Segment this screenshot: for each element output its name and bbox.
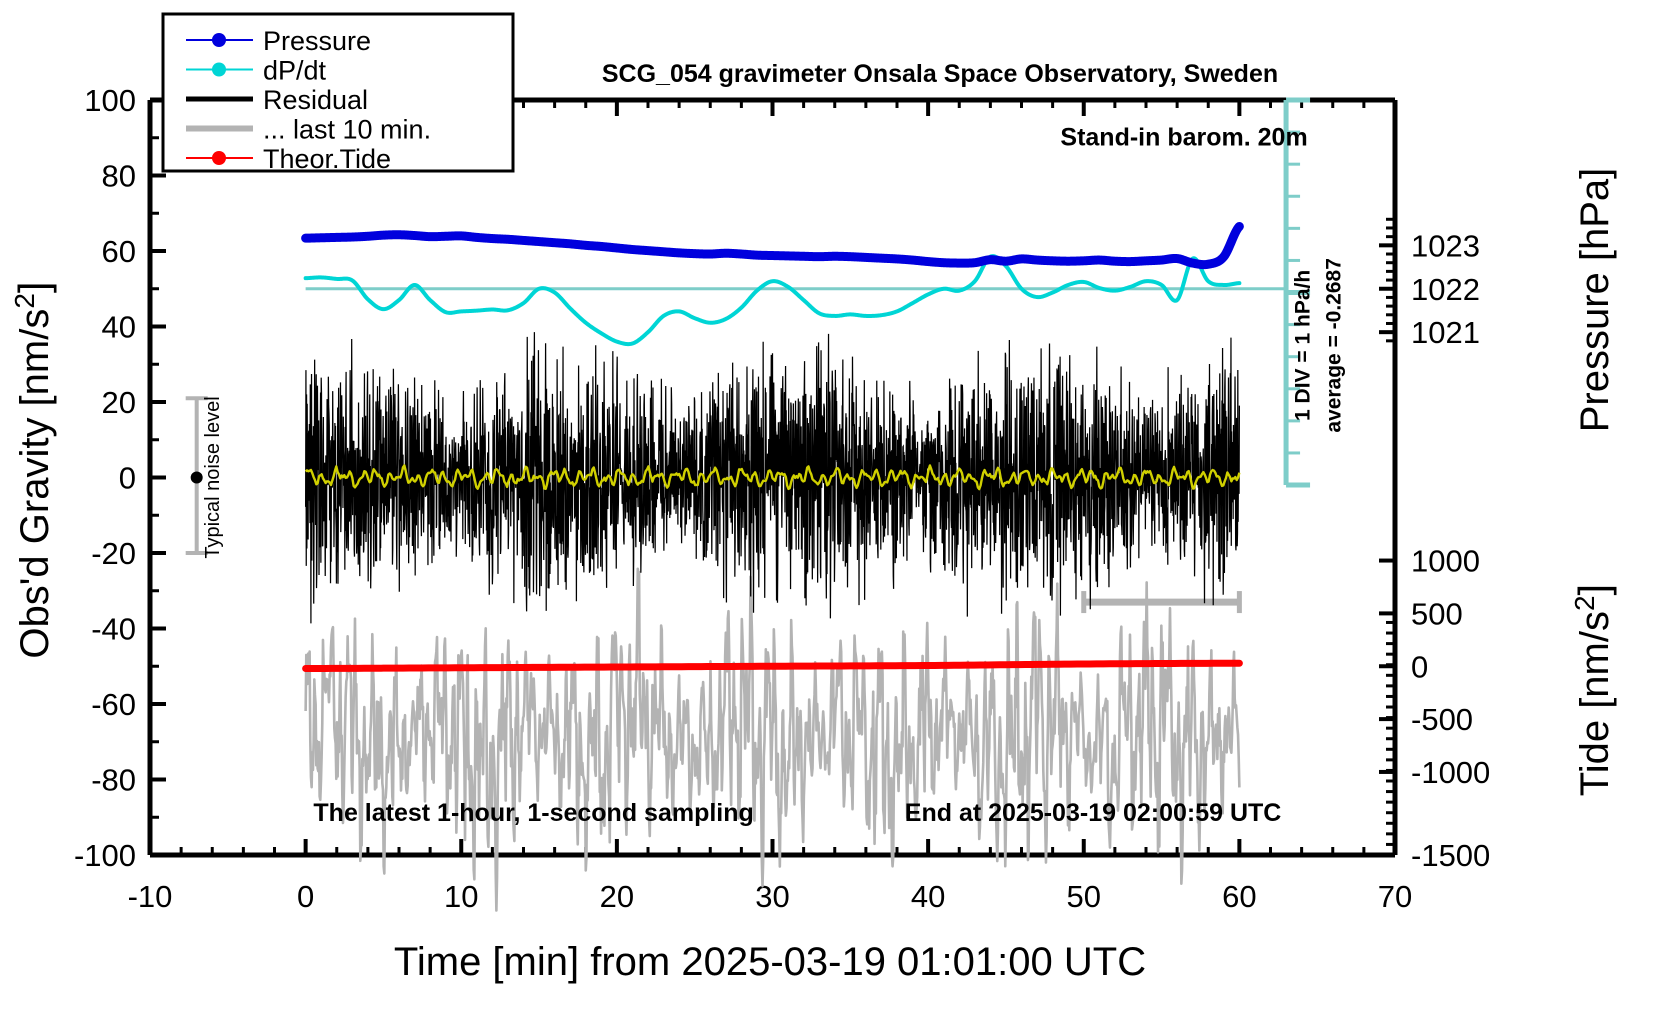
right-tide-tick-label: -500 [1411, 702, 1473, 737]
y-tick-label: 0 [119, 461, 136, 496]
y-tick-label: 20 [102, 385, 136, 420]
right-pressure-axis-title: Pressure [hPa] [1573, 168, 1617, 433]
chart-legend[interactable]: PressuredP/dtResidual... last 10 min.The… [163, 14, 513, 174]
right-pressure-tick-label: 1021 [1411, 315, 1480, 350]
x-tick-label: 30 [755, 879, 789, 914]
x-tick-label: 40 [911, 879, 945, 914]
y-tick-label: -20 [91, 536, 136, 571]
right-pressure-tick-label: 1023 [1411, 228, 1480, 263]
y-tick-label: -60 [91, 687, 136, 722]
right-tide-axis-title: Tide [nm/s2] [1569, 584, 1617, 796]
gravimeter-plot-page: -10010203040506070 -100-80-60-40-2002040… [0, 0, 1660, 1020]
typical-noise-level-label: Typical noise level [202, 396, 224, 558]
right-tide-tick-label: 0 [1411, 649, 1428, 684]
y-tick-label: 100 [84, 83, 136, 118]
annotation-stand-in-barom: Stand-in barom. 20m [1060, 123, 1307, 151]
legend-marker-4 [212, 151, 226, 165]
gravimeter-chart: -10010203040506070 -100-80-60-40-2002040… [0, 0, 1660, 1020]
legend-marker-1 [212, 63, 226, 77]
chart-title: SCG_054 gravimeter Onsala Space Observat… [602, 60, 1278, 88]
x-tick-label: -10 [128, 879, 173, 914]
right-tide-tick-label: 500 [1411, 596, 1463, 631]
y-axis-title-superscript: 2 [9, 293, 40, 309]
x-axis-title: Time [min] from 2025-03-19 01:01:00 UTC [394, 940, 1146, 984]
x-tick-label: 10 [444, 879, 478, 914]
y-tick-label: 80 [102, 159, 136, 194]
y-axis-title-close: ] [10, 281, 57, 293]
legend-label-3: ... last 10 min. [263, 115, 431, 145]
annotation-sampling-note: The latest 1-hour, 1-second sampling [313, 799, 753, 827]
right-tide-tick-label: 1000 [1411, 544, 1480, 579]
y-tick-label: -100 [74, 838, 136, 873]
y-tick-label: -80 [91, 763, 136, 798]
annotation-div-scale: 1 DIV = 1 hPa/h [1291, 270, 1314, 421]
annotation-end-time: End at 2025-03-19 02:00:59 UTC [905, 799, 1282, 827]
x-tick-label: 70 [1378, 879, 1412, 914]
x-tick-label: 20 [600, 879, 634, 914]
y-axis-title: Obs'd Gravity [nm/s2] [9, 281, 57, 658]
right-tide-axis-close: ] [1570, 584, 1617, 596]
legend-label-4: Theor.Tide [263, 144, 391, 174]
y-tick-label: 60 [102, 234, 136, 269]
x-tick-label: 50 [1067, 879, 1101, 914]
y-tick-label: -40 [91, 612, 136, 647]
legend-label-0: Pressure [263, 26, 371, 56]
legend-label-1: dP/dt [263, 56, 327, 86]
noise-bar-center-dot [191, 472, 203, 484]
right-pressure-tick-label: 1022 [1411, 272, 1480, 307]
x-tick-label: 0 [297, 879, 314, 914]
legend-label-2: Residual [263, 85, 368, 115]
right-tide-tick-label: -1000 [1411, 755, 1490, 790]
right-tide-tick-label: -1500 [1411, 838, 1490, 873]
right-tide-axis-superscript: 2 [1569, 595, 1600, 611]
y-tick-label: 40 [102, 310, 136, 345]
legend-marker-0 [212, 33, 226, 47]
x-tick-label: 60 [1222, 879, 1256, 914]
annotation-dpdt-average: average = -0.2687 [1323, 258, 1346, 433]
